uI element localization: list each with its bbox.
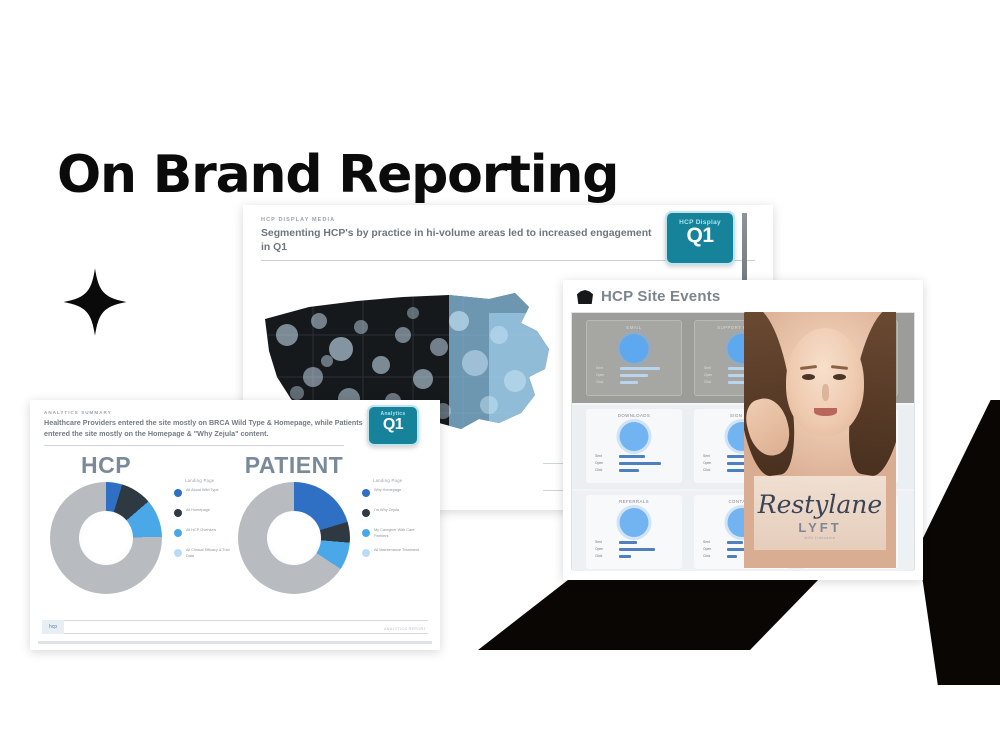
site-events-title: HCP Site Events	[601, 288, 720, 305]
card-footer	[42, 620, 428, 634]
legend-title: Landing Page	[185, 478, 236, 483]
decor-triangle	[750, 578, 820, 650]
legend-patient: Landing Page Why Homepage I'm Why Zejula…	[362, 478, 424, 568]
bar-label: Click	[596, 380, 618, 384]
bar-label: Open	[596, 373, 618, 377]
page-title: On Brand Reporting	[57, 145, 618, 205]
donut-hcp	[50, 482, 162, 594]
legend-item: All HCP Overview	[174, 528, 236, 548]
legend-hcp: Landing Page All About Wild Type All Hom…	[174, 478, 236, 568]
hcp-headline: Segmenting HCP's by practice in hi-volum…	[261, 227, 661, 255]
legend-item: All About Wild Type	[174, 488, 236, 508]
badge-hcp-display-q1[interactable]: HCP Display Q1	[665, 211, 735, 265]
brand-wordmark: Restylane	[758, 490, 882, 519]
chart-hcp-title: HCP	[42, 452, 170, 479]
brand-lockup: Restylane LYFT with Lidocaine	[754, 476, 886, 550]
bar-label: Sent	[703, 540, 725, 544]
legend-label: All Maintenance Treatment	[374, 548, 424, 554]
legend-swatch	[362, 529, 370, 537]
metric-icon	[620, 508, 649, 537]
legend-label: I'm Why Zejula	[374, 508, 424, 514]
card-baseline	[38, 641, 432, 644]
analytics-eyebrow: ANALYTICS SUMMARY	[44, 410, 112, 415]
bar-label: Click	[704, 380, 726, 384]
legend-swatch	[174, 509, 182, 517]
face	[786, 328, 864, 436]
bar-label: Sent	[596, 366, 618, 370]
nose	[822, 384, 829, 401]
legend-label: My Caregiver With Care Partners	[374, 528, 424, 539]
legend-label: All About Wild Type	[186, 488, 236, 494]
bar-label: Click	[703, 468, 725, 472]
eye-right	[833, 374, 846, 380]
analytics-summary-text: Healthcare Providers entered the site mo…	[44, 418, 374, 440]
metric-bars: Sent Open Click	[596, 366, 674, 388]
decor-diamond	[918, 400, 1000, 685]
metric-card[interactable]: EMAIL Sent Open Click	[586, 320, 682, 396]
bar-label: Click	[595, 554, 617, 558]
four-point-star-icon	[60, 267, 130, 337]
bar-label: Open	[595, 547, 617, 551]
legend-swatch	[174, 489, 182, 497]
metric-card-label: REFERRALS	[586, 499, 682, 504]
bar-label: Sent	[704, 366, 726, 370]
metric-card-label: DOWNLOADS	[586, 413, 682, 418]
hcp-eyebrow: HCP DISPLAY MEDIA	[261, 217, 335, 223]
legend-swatch	[362, 489, 370, 497]
legend-label: All Clinical Efficacy & Trial Data	[186, 548, 236, 559]
legend-item: Why Homepage	[362, 488, 424, 508]
calendar-icon	[577, 290, 593, 304]
legend-swatch	[362, 509, 370, 517]
bar-label: Open	[703, 547, 725, 551]
badge-value: Q1	[667, 226, 733, 246]
eyebrow-left	[800, 365, 817, 370]
legend-item: All Homepage	[174, 508, 236, 528]
bar-label: Click	[703, 554, 725, 558]
metric-icon	[620, 334, 649, 363]
bar-label: Open	[703, 461, 725, 465]
metric-bars: Sent Open Click	[595, 540, 673, 562]
metric-bars: Sent Open Click	[595, 454, 673, 476]
legend-label: All HCP Overview	[186, 528, 236, 534]
legend-label: All Homepage	[186, 508, 236, 514]
metric-card-label: EMAIL	[587, 325, 681, 330]
badge-value: Q1	[369, 417, 417, 432]
legend-item: I'm Why Zejula	[362, 508, 424, 528]
badge-analytics-q1[interactable]: Analytics Q1	[367, 405, 419, 446]
bar-label: Click	[595, 468, 617, 472]
mouth	[814, 408, 837, 416]
legend-item: All Maintenance Treatment	[362, 548, 424, 568]
metric-icon	[620, 422, 649, 451]
legend-label: Why Homepage	[374, 488, 424, 494]
brand-logo: hcp	[42, 620, 64, 634]
bar-label: Open	[704, 373, 726, 377]
donut-patient	[238, 482, 350, 594]
legend-item: My Caregiver With Care Partners	[362, 528, 424, 548]
bar-label: Sent	[595, 540, 617, 544]
bar-label: Sent	[703, 454, 725, 458]
legend-swatch	[362, 549, 370, 557]
bar-label: Sent	[595, 454, 617, 458]
legend-swatch	[174, 549, 182, 557]
legend-title: Landing Page	[373, 478, 424, 483]
decor-trapezoid	[478, 578, 750, 650]
bar-label: Open	[595, 461, 617, 465]
metric-card[interactable]: DOWNLOADS Sent Open Click	[586, 409, 682, 483]
chart-patient-title: PATIENT	[230, 452, 358, 479]
metric-card[interactable]: REFERRALS Sent Open Click	[586, 495, 682, 569]
slide-canvas: On Brand Reporting HCP DISPLAY MEDIA Seg…	[0, 0, 1000, 750]
divider	[44, 445, 344, 446]
eyebrow-right	[831, 365, 848, 370]
legend-item: All Clinical Efficacy & Trial Data	[174, 548, 236, 568]
card-restylane-creative[interactable]: Restylane LYFT with Lidocaine	[744, 312, 896, 568]
eye-left	[802, 374, 815, 380]
sub-brand: LYFT	[798, 520, 841, 535]
fine-print: with Lidocaine	[804, 536, 835, 540]
footer-text: ANALYTICS REPORT	[384, 627, 426, 631]
legend-swatch	[174, 529, 182, 537]
